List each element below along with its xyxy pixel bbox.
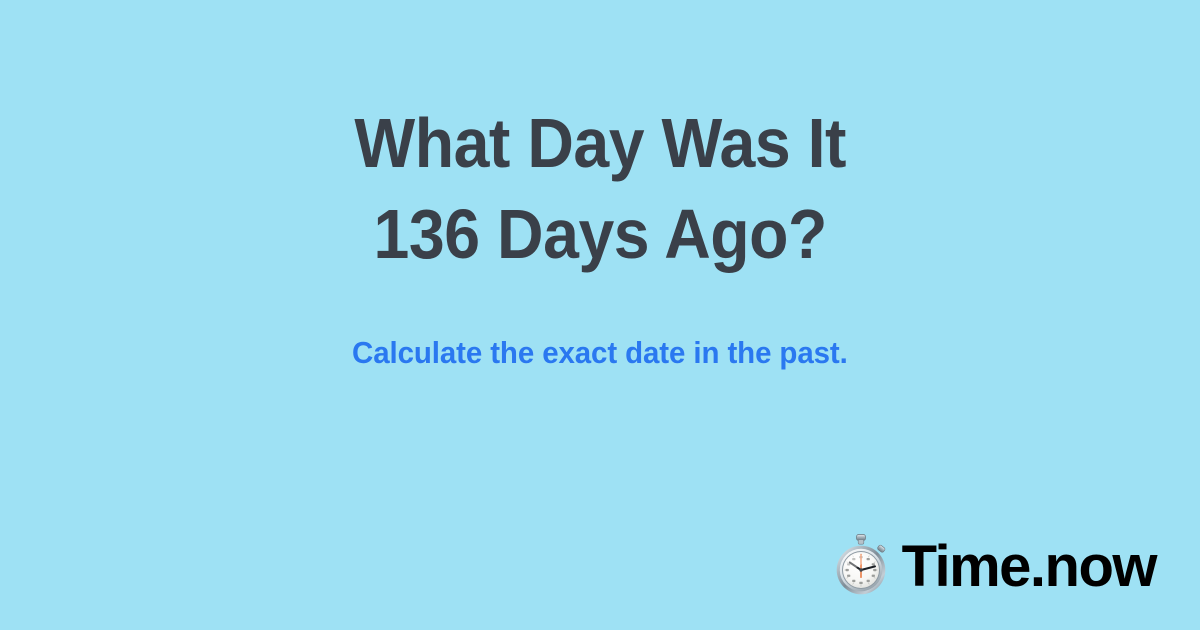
brand-name: Time.now bbox=[902, 538, 1156, 596]
page-title-line-2: 136 Days Ago? bbox=[354, 189, 846, 280]
hero-section: What Day Was It 136 Days Ago? Calculate … bbox=[0, 0, 1200, 470]
page-title: What Day Was It 136 Days Ago? bbox=[354, 98, 846, 280]
page-title-line-1: What Day Was It bbox=[354, 98, 846, 189]
brand-logo[interactable]: Time.now bbox=[832, 528, 1156, 602]
og-card: What Day Was It 136 Days Ago? Calculate … bbox=[0, 0, 1200, 630]
page-subtitle: Calculate the exact date in the past. bbox=[352, 334, 848, 371]
stopwatch-icon bbox=[832, 534, 890, 596]
